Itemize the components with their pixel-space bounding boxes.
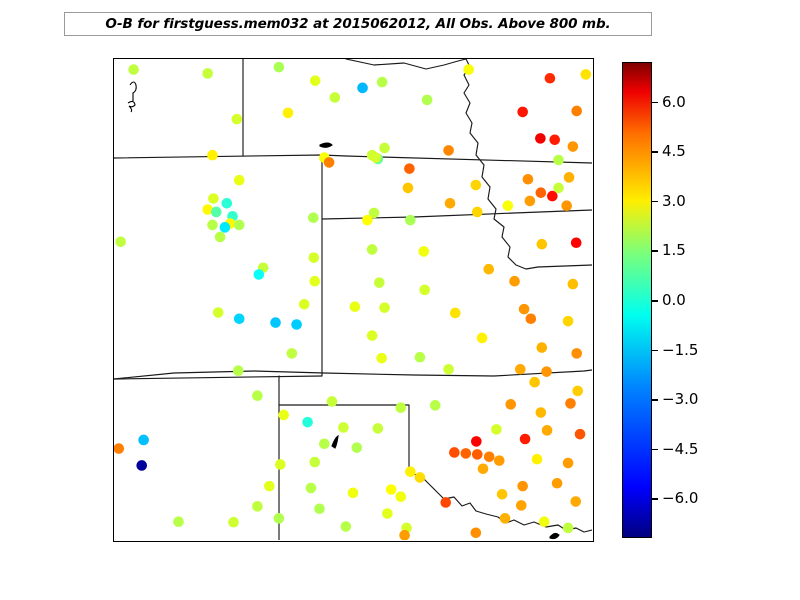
observation-point (274, 62, 285, 73)
observation-point (207, 220, 218, 231)
observation-point (399, 530, 410, 540)
observation-point (477, 333, 488, 344)
chart-title-box: O-B for firstguess.mem032 at 2015062012,… (64, 12, 652, 36)
observation-point (173, 516, 184, 527)
observation-point (367, 244, 378, 255)
observation-point (517, 107, 528, 118)
observation-point (500, 513, 511, 524)
observation-point (545, 73, 556, 84)
observation-point (215, 232, 226, 243)
colorbar-tick-mark (652, 201, 658, 203)
observation-point (484, 451, 495, 462)
observation-point (478, 464, 489, 475)
observation-point (287, 348, 298, 359)
observation-point (404, 163, 415, 174)
observation-point (571, 106, 582, 117)
observation-point (396, 491, 407, 502)
observation-point (252, 390, 263, 401)
observation-point (515, 364, 526, 375)
observation-point (309, 252, 320, 263)
colorbar-tick-label: −4.5 (662, 440, 698, 458)
colorbar-tick-mark (652, 300, 658, 302)
observation-point (232, 114, 243, 125)
colorbar-tick-label: 0.0 (662, 291, 686, 309)
observation-point (207, 150, 218, 161)
observation-point (509, 276, 520, 287)
observation-point (213, 307, 224, 318)
observation-point (471, 527, 482, 538)
observation-point (503, 200, 514, 211)
observation-point (274, 513, 285, 524)
observation-point (536, 187, 547, 198)
colorbar-tick-label: 6.0 (662, 93, 686, 111)
colorbar-tick-mark (652, 250, 658, 252)
colorbar-tick-mark (652, 151, 658, 153)
observation-point (472, 207, 483, 218)
observation-point (291, 319, 302, 330)
observation-point (516, 500, 527, 511)
observation-point (571, 348, 582, 359)
observation-point (525, 196, 536, 207)
observation-point (233, 365, 244, 376)
observation-point (327, 396, 338, 407)
observation-point (563, 316, 574, 327)
observation-point (535, 133, 546, 144)
observation-point (450, 308, 461, 319)
page-title: O-B for firstguess.mem032 at 2015062012,… (105, 16, 610, 32)
observation-point (542, 425, 553, 436)
colorbar-tick-mark (652, 350, 658, 352)
observation-point (526, 313, 537, 324)
observation-point (234, 313, 245, 324)
observation-point (283, 108, 294, 119)
observation-point (314, 503, 325, 514)
colorbar-tick-mark (652, 102, 658, 104)
observation-point (443, 364, 454, 375)
observation-point (362, 215, 373, 226)
colorbar: 6.04.53.01.50.0−1.5−3.0−4.5−6.0 (622, 62, 652, 538)
observation-point (440, 497, 451, 508)
observation-point (228, 517, 239, 528)
observation-point (571, 237, 582, 248)
figure-root: O-B for firstguess.mem032 at 2015062012,… (0, 0, 800, 600)
observation-point (549, 135, 560, 146)
observation-point (357, 83, 368, 94)
observation-point (422, 95, 433, 106)
observation-point (430, 400, 441, 411)
colorbar-ticks: 6.04.53.01.50.0−1.5−3.0−4.5−6.0 (622, 62, 692, 538)
observation-point (563, 523, 574, 534)
observation-point (234, 175, 245, 186)
observation-point (234, 220, 245, 231)
colorbar-tick-label: −3.0 (662, 390, 698, 408)
observation-point (519, 304, 530, 315)
colorbar-tick-label: −1.5 (662, 341, 698, 359)
observation-point (306, 483, 317, 494)
observation-point (553, 155, 564, 166)
observation-point (211, 207, 222, 218)
observation-point (561, 200, 572, 211)
observation-point (309, 276, 320, 287)
observation-point (529, 377, 540, 388)
observation-point (308, 212, 319, 223)
observation-point (523, 174, 534, 185)
observation-point (445, 198, 456, 209)
observation-point (319, 439, 330, 450)
observation-point (565, 398, 576, 409)
observation-point (309, 457, 320, 468)
observation-point (403, 183, 414, 194)
observation-point (352, 442, 363, 453)
observation-point (299, 299, 310, 310)
observation-point (483, 264, 494, 275)
observation-point (541, 366, 552, 377)
observation-point (568, 141, 579, 152)
observation-point (114, 443, 124, 454)
observation-point (278, 410, 289, 421)
observation-point (386, 484, 397, 495)
observation-point (564, 172, 575, 183)
observation-point (222, 198, 233, 209)
observation-point (396, 402, 407, 413)
observation-point (382, 508, 393, 519)
observation-point (252, 501, 263, 512)
observation-point (379, 302, 390, 313)
observation-point (330, 92, 341, 103)
observation-point (494, 455, 505, 466)
observation-point (208, 193, 219, 204)
observation-point (377, 77, 388, 88)
observation-point (568, 279, 579, 290)
observation-point (471, 180, 482, 191)
observation-point (553, 183, 564, 194)
observation-point (563, 458, 574, 469)
observation-point (374, 277, 385, 288)
observation-point (463, 64, 474, 75)
observation-point (415, 352, 426, 363)
observation-point (532, 454, 543, 465)
colorbar-tick-mark (652, 498, 658, 500)
observation-point (575, 429, 586, 440)
observation-point (415, 472, 426, 483)
observation-point (497, 489, 508, 500)
observation-point (491, 424, 502, 435)
colorbar-tick-mark (652, 449, 658, 451)
colorbar-tick-label: 3.0 (662, 192, 686, 210)
observation-point (373, 423, 384, 434)
observation-point (341, 521, 352, 532)
observation-point (136, 460, 147, 471)
observation-point (505, 399, 516, 410)
observation-point (580, 69, 591, 80)
observation-point (128, 64, 139, 75)
observation-point (270, 317, 281, 328)
colorbar-tick-mark (652, 399, 658, 401)
colorbar-tick-label: −6.0 (662, 489, 698, 507)
observation-point (405, 215, 416, 226)
observation-point (367, 330, 378, 341)
colorbar-tick-label: 1.5 (662, 241, 686, 259)
observation-point (552, 478, 563, 489)
observation-point (202, 68, 213, 79)
observation-point (338, 422, 349, 433)
observation-point (264, 481, 275, 492)
observation-point (379, 143, 390, 154)
observation-point (570, 496, 581, 507)
observation-point (371, 152, 382, 163)
observation-point (536, 407, 547, 418)
observation-point (572, 386, 583, 397)
colorbar-tick-label: 4.5 (662, 142, 686, 160)
observation-point (461, 448, 472, 459)
observation-point (376, 353, 387, 364)
observation-point (254, 269, 265, 280)
observation-point (220, 222, 231, 233)
observation-point (443, 145, 454, 156)
map-plot-area (113, 58, 594, 542)
observation-point (324, 157, 335, 168)
observation-point (537, 239, 548, 250)
observation-point (419, 285, 430, 296)
observation-point (517, 481, 528, 492)
observation-point (115, 236, 126, 247)
observation-point (418, 246, 429, 257)
observation-point (539, 516, 550, 527)
observation-scatter-layer (114, 59, 592, 540)
observation-point (537, 342, 548, 353)
observation-point (302, 417, 313, 428)
observation-point (138, 435, 149, 446)
observation-point (310, 75, 321, 86)
observation-point (520, 434, 531, 445)
observation-point (472, 449, 483, 460)
observation-point (471, 436, 482, 447)
observation-point (275, 459, 286, 470)
observation-point (405, 466, 416, 477)
observation-point (449, 447, 460, 458)
observation-point (348, 488, 359, 499)
observation-point (350, 301, 361, 312)
